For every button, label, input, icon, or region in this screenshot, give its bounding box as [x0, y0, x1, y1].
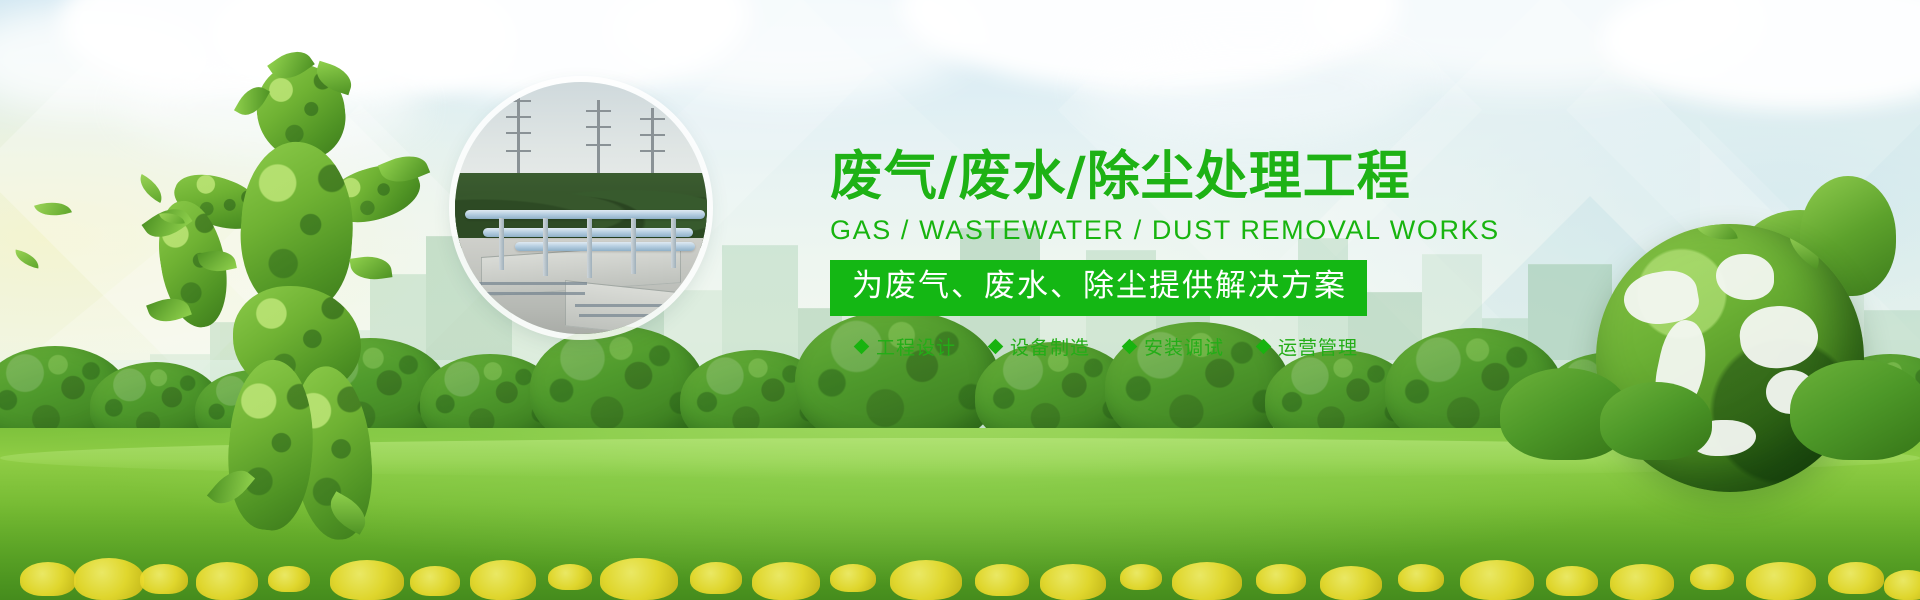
list-item-label: 工程设计 [876, 333, 956, 360]
diamond-bullet-icon [1256, 339, 1272, 355]
list-item[interactable]: 安装调试 [1124, 333, 1224, 360]
list-item-label: 运营管理 [1278, 333, 1358, 360]
facility-photo-circle [455, 82, 707, 334]
page-title: 废气/废水/除尘处理工程 [830, 148, 1630, 206]
list-item[interactable]: 运营管理 [1258, 333, 1358, 360]
page-subtitle-english: GAS / WASTEWATER / DUST REMOVAL WORKS [830, 215, 1630, 246]
diamond-bullet-icon [988, 339, 1004, 355]
diamond-bullet-icon [854, 339, 870, 355]
list-item-label: 安装调试 [1144, 333, 1224, 360]
list-item[interactable]: 设备制造 [990, 333, 1090, 360]
promo-banner: 废气/废水/除尘处理工程 GAS / WASTEWATER / DUST REM… [0, 0, 1920, 600]
diamond-bullet-icon [1122, 339, 1138, 355]
right-foreground-trees [1500, 330, 1920, 460]
list-item[interactable]: 工程设计 [856, 333, 956, 360]
slogan-banner: 为废气、废水、除尘提供解决方案 [830, 260, 1367, 316]
headline-block: 废气/废水/除尘处理工程 GAS / WASTEWATER / DUST REM… [830, 148, 1630, 360]
slogan-text: 为废气、废水、除尘提供解决方案 [852, 268, 1347, 304]
list-item-label: 设备制造 [1010, 333, 1090, 360]
leaf-human-figure [175, 60, 435, 540]
